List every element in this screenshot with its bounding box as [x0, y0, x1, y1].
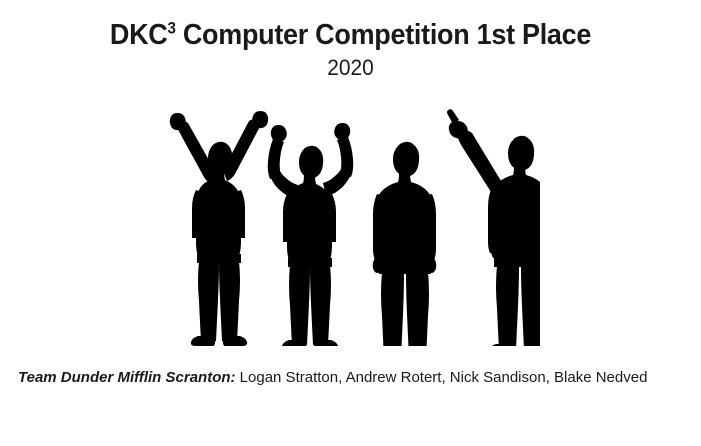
team-members: Logan Stratton, Andrew Rotert, Nick Sand… [236, 369, 648, 386]
silhouette-figure-3 [373, 142, 437, 346]
title-rest: Computer Competition 1st Place [176, 19, 591, 51]
team-label: Team Dunder Mifflin Scranton: [18, 369, 236, 386]
slide-canvas: DKC3 Computer Competition 1st Place 2020 [0, 0, 701, 446]
silhouette-figure-2 [268, 123, 354, 346]
silhouette-figure-4 [447, 109, 540, 346]
silhouette-figure-1 [170, 111, 268, 346]
title-prefix: DKC [110, 19, 168, 51]
silhouette-group-image [160, 98, 540, 346]
page-title: DKC3 Computer Competition 1st Place [25, 18, 677, 52]
subtitle-year: 2020 [18, 55, 684, 81]
title-block: DKC3 Computer Competition 1st Place 2020 [0, 18, 701, 81]
team-caption: Team Dunder Mifflin Scranton: Logan Stra… [18, 368, 688, 388]
